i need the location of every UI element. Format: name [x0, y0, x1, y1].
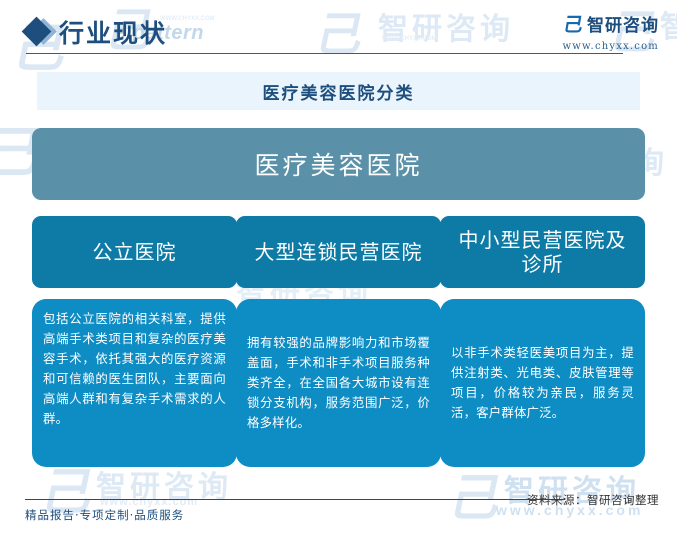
- category-label: 公立医院: [93, 240, 177, 264]
- brand-logo: 己 智研咨询 www.chyxx.com: [562, 10, 659, 52]
- description-box-public-hospital: 包括公立医院的相关科室，提供高端手术类项目和复杂的医疗美容手术，依托其强大的医疗…: [32, 299, 237, 467]
- root-node-label: 医疗美容医院: [254, 146, 422, 182]
- description-text: 包括公立医院的相关科室，提供高端手术类项目和复杂的医疗美容手术，依托其强大的医疗…: [43, 309, 226, 430]
- footer-divider: [25, 499, 565, 500]
- description-box-small-medium-private-hospital: 以非手术类轻医美项目为主，提供注射类、光电类、皮肤管理等项目，价格较为亲民，服务…: [440, 299, 645, 467]
- category-box-small-medium-private-hospital[interactable]: 中小型民营医院及诊所: [440, 216, 645, 288]
- description-text: 拥有较强的品牌影响力和市场覆盖面，手术和非手术项目服务种类齐全，在全国各大城市设…: [247, 333, 430, 433]
- description-text: 以非手术类轻医美项目为主，提供注射类、光电类、皮肤管理等项目，价格较为亲民，服务…: [451, 343, 634, 423]
- category-box-large-chain-private-hospital[interactable]: 大型连锁民营医院: [236, 216, 441, 288]
- slide-page: 己 WWW.CHYXX.COM 己 己 智研咨询 WWW.CHYXX.COM 己…: [0, 0, 677, 538]
- page-title: 行业现状: [59, 14, 167, 50]
- description-box-large-chain-private-hospital: 拥有较强的品牌影响力和市场覆盖面，手术和非手术项目服务种类齐全，在全国各大城市设…: [236, 299, 441, 467]
- brand-name: 智研咨询: [587, 11, 659, 36]
- brand-url: www.chyxx.com: [562, 41, 659, 52]
- category-label: 大型连锁民营医院: [255, 240, 423, 264]
- brand-mark-icon: 己: [562, 10, 584, 37]
- chart-title: 医疗美容医院分类: [263, 79, 415, 104]
- footer-tagline: 精品报告·专项定制·品质服务: [25, 507, 184, 523]
- footer-source: 资料来源：智研咨询整理: [527, 492, 659, 508]
- watermark-logo-mark: 己: [444, 458, 505, 530]
- category-box-public-hospital[interactable]: 公立医院: [32, 216, 237, 288]
- root-node: 医疗美容医院: [32, 128, 645, 200]
- page-header: e pattern 行业现状 己 智研咨询 www.chyxx.com: [0, 0, 677, 62]
- category-label: 中小型民营医院及诊所: [452, 228, 633, 277]
- header-divider: [26, 53, 623, 54]
- chart-title-bar: 医疗美容医院分类: [37, 72, 640, 110]
